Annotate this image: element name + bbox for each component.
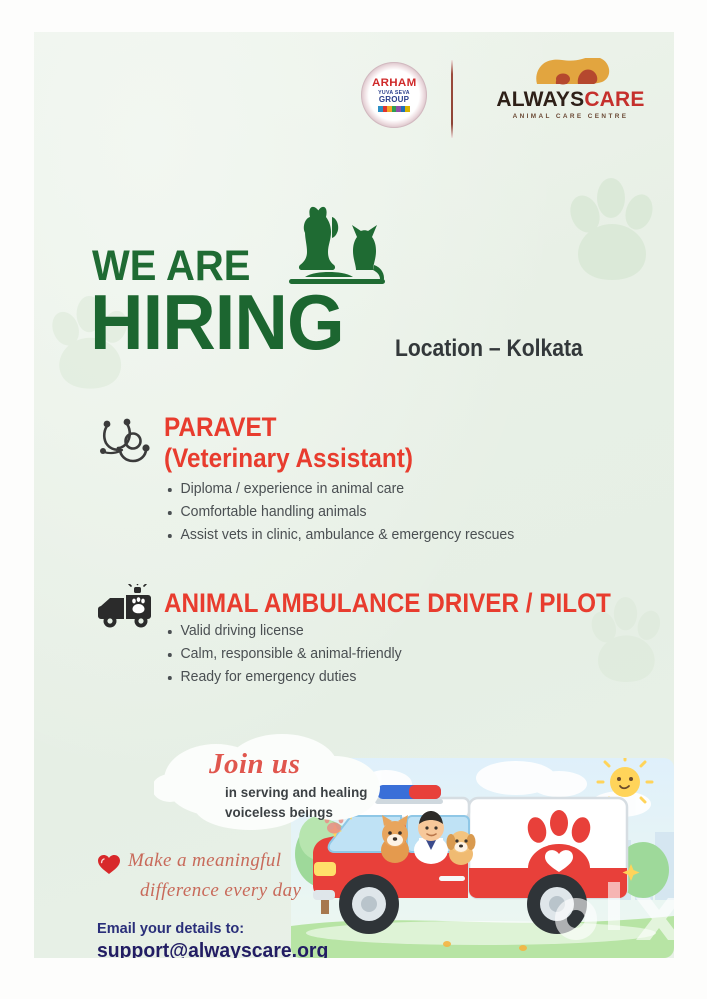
logo-bar: ARHAM YUVA SEVA GROUP ALWAYSCARE: [34, 58, 674, 158]
always-word: ALWAYS: [496, 88, 584, 111]
email-address[interactable]: support@alwayscare.org: [97, 940, 328, 958]
list-item: Assist vets in clinic, ambulance & emerg…: [164, 524, 514, 547]
care-word: CARE: [584, 88, 644, 111]
always-care-subtitle: ANIMAL CARE CENTRE: [478, 113, 663, 120]
olx-watermark-icon: [554, 878, 674, 958]
heart-icon: [97, 853, 121, 875]
job-title-paravet: PARAVET (Veterinary Assistant): [164, 412, 413, 474]
tagline-line1: Make a meaningful: [128, 850, 281, 872]
join-us-heading: Join us: [209, 748, 300, 781]
list-item: Ready for emergency duties: [164, 666, 402, 689]
job-title-line1: ANIMAL AMBULANCE DRIVER / PILOT: [164, 588, 611, 619]
email-label: Email your details to:: [97, 920, 244, 937]
job-title-ambulance-driver: ANIMAL AMBULANCE DRIVER / PILOT: [164, 588, 611, 619]
headline-block: WE ARE HIRING Location – Kolkata: [34, 200, 674, 385]
arham-logo-color-blocks: [378, 106, 410, 112]
arham-logo: ARHAM YUVA SEVA GROUP: [361, 62, 427, 128]
list-item: Diploma / experience in animal care: [164, 478, 514, 501]
arham-logo-line1: ARHAM: [372, 78, 417, 89]
logo-divider: [451, 60, 453, 138]
list-item: Calm, responsible & animal-friendly: [164, 643, 402, 666]
join-us-line1: in serving and healing: [225, 784, 368, 800]
animal-ambulance-icon: [96, 584, 158, 634]
list-item: Comfortable handling animals: [164, 501, 514, 524]
always-care-wordmark: ALWAYSCARE: [478, 88, 663, 111]
headline-hiring: HIRING: [90, 282, 344, 362]
job-requirements-ambulance-driver: Valid driving license Calm, responsible …: [164, 620, 409, 689]
job-title-line1: PARAVET: [164, 412, 413, 443]
list-item: Valid driving license: [164, 620, 402, 643]
hiring-poster: ARHAM YUVA SEVA GROUP ALWAYSCARE: [34, 32, 674, 958]
job-title-line2: (Veterinary Assistant): [164, 443, 413, 474]
arham-logo-line3: GROUP: [379, 96, 409, 104]
join-us-line2: voiceless beings: [225, 804, 333, 820]
poster-canvas: ARHAM YUVA SEVA GROUP ALWAYSCARE: [0, 0, 707, 999]
job-requirements-paravet: Diploma / experience in animal care Comf…: [164, 478, 525, 547]
stethoscope-icon: [96, 416, 158, 466]
location-text: Location – Kolkata: [395, 335, 583, 363]
tagline-line2: difference every day: [140, 880, 301, 902]
always-care-logo: ALWAYSCARE ANIMAL CARE CENTRE: [478, 58, 663, 120]
cow-vet-emblem-icon: [478, 58, 663, 88]
